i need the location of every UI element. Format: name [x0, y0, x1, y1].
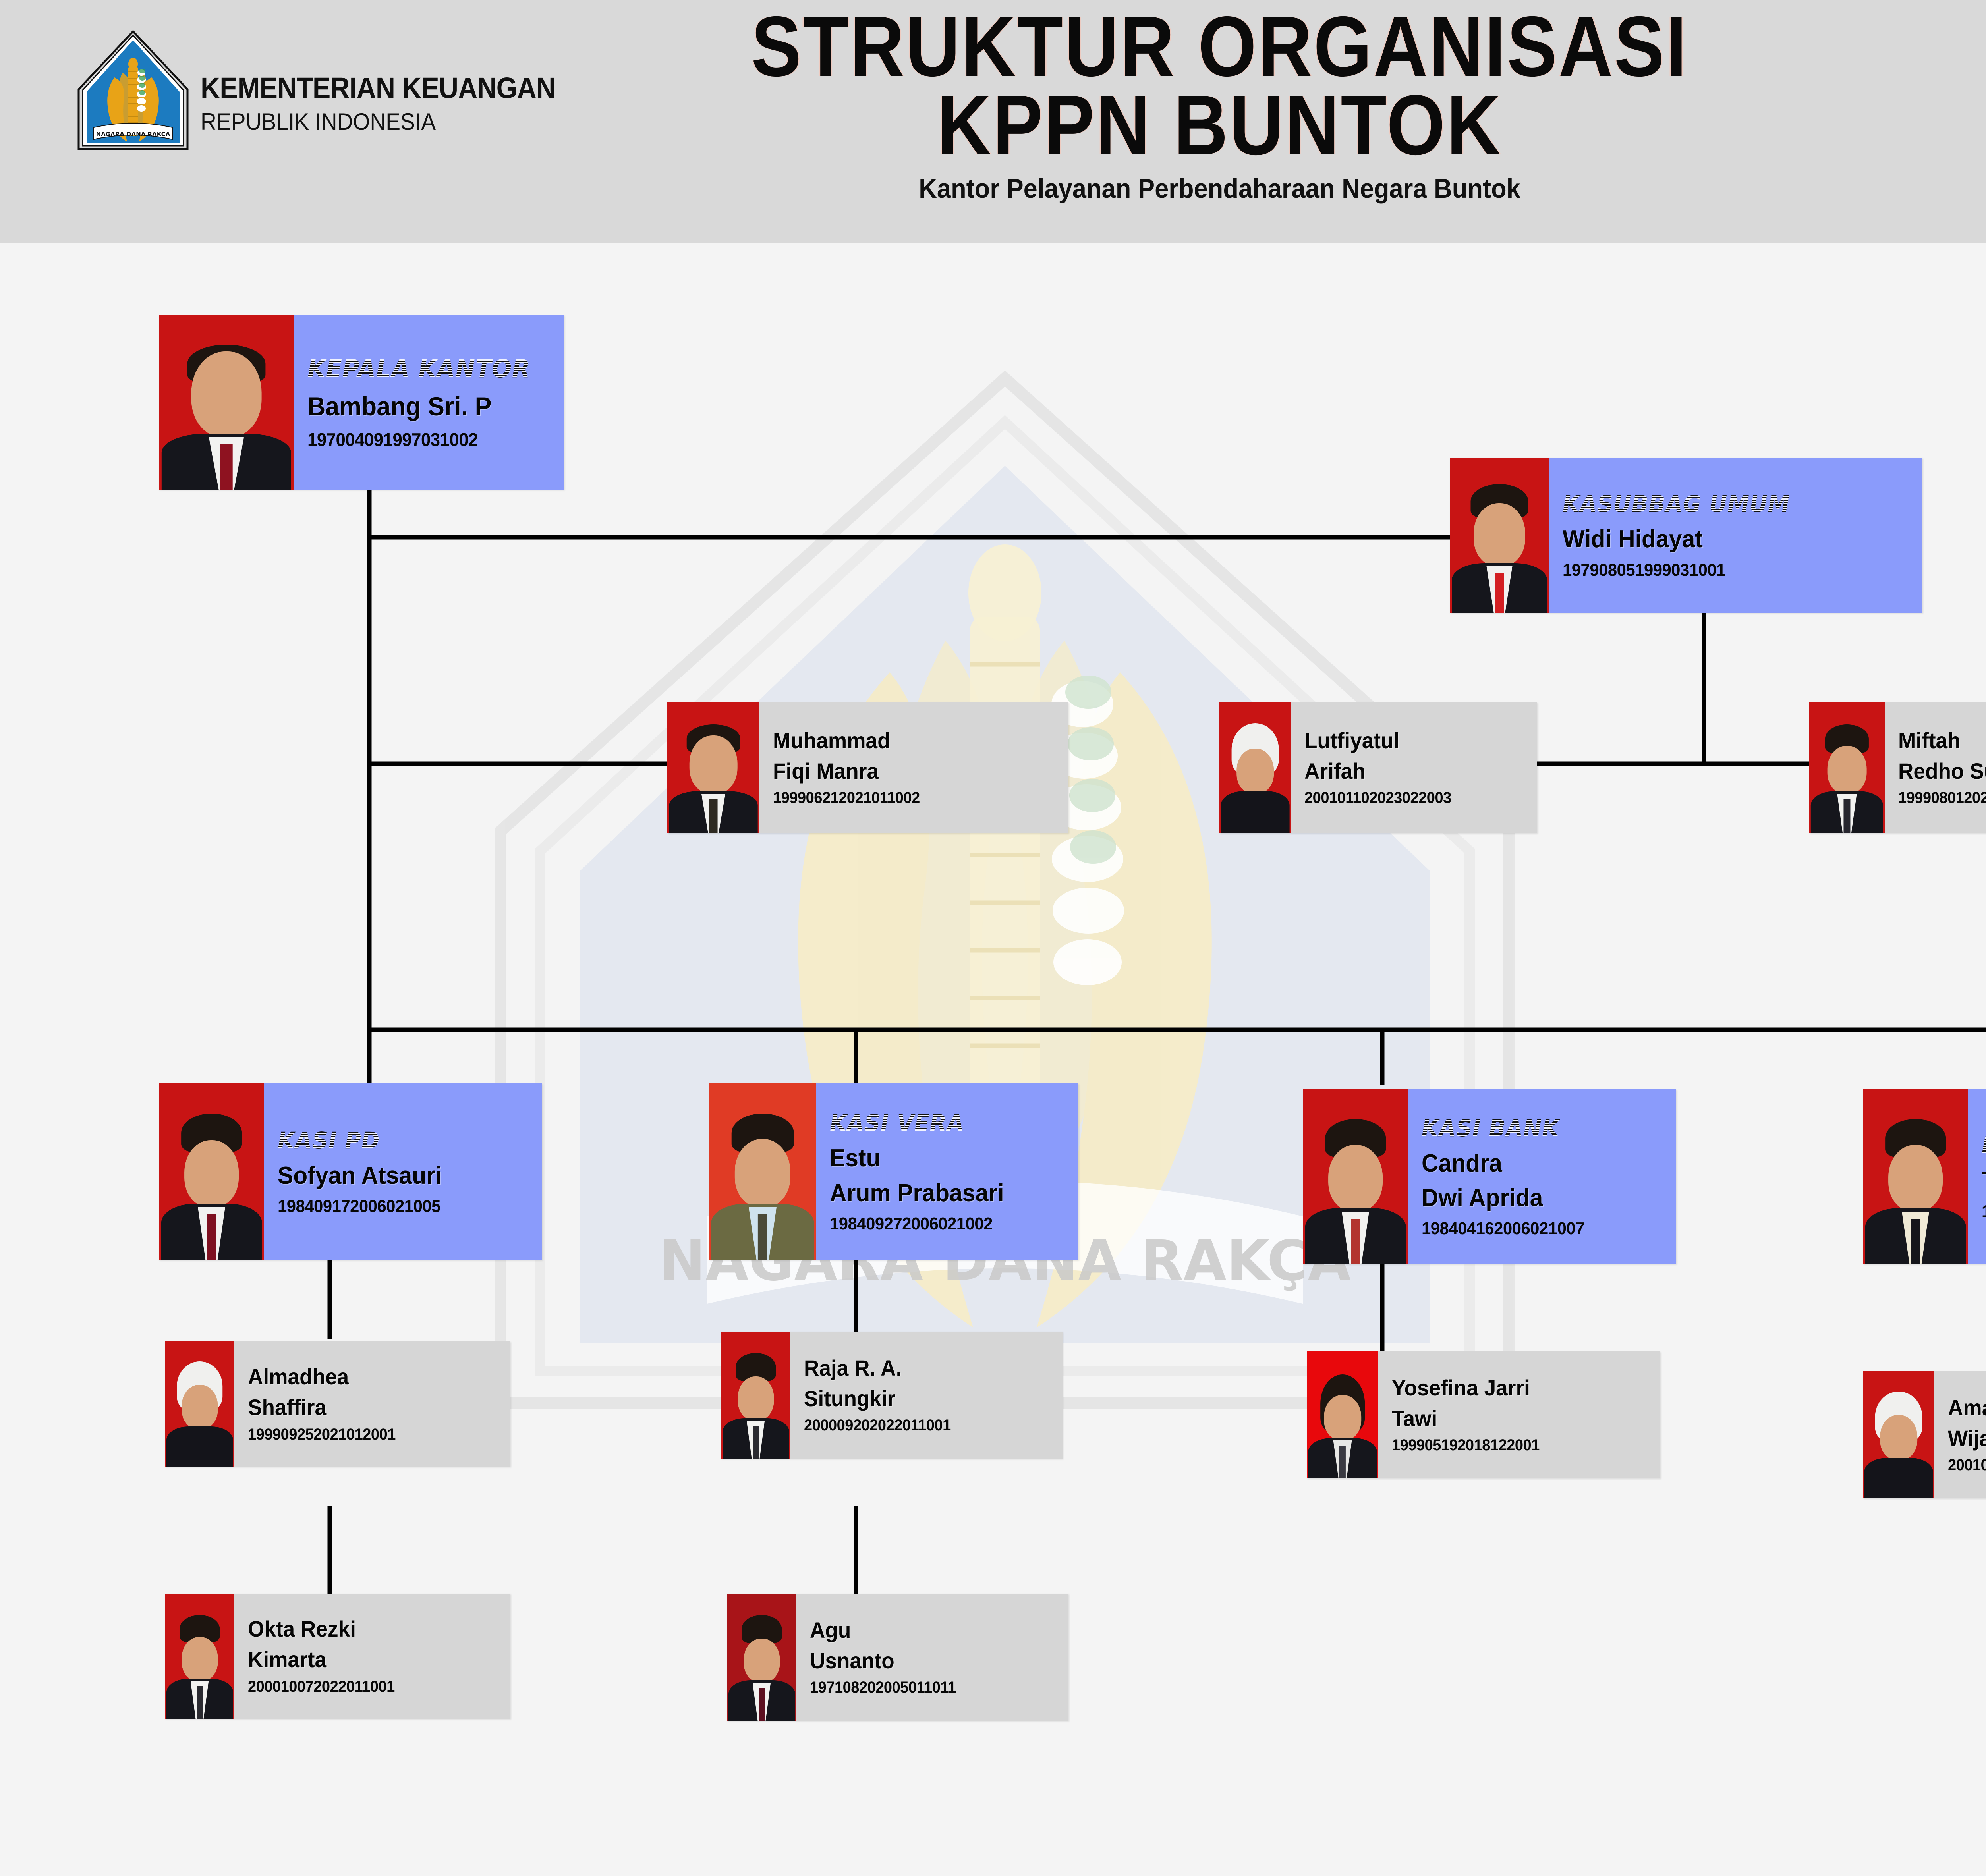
- card-kasubbag-umum[interactable]: KASUBBAG UMUM Widi Hidayat 1979080519990…: [1450, 458, 1922, 613]
- name-staff-vera-1-line1: Agu: [810, 1618, 1046, 1643]
- card-staff-bank-0[interactable]: Yosefina Jarri Tawi 199905192018122001: [1307, 1351, 1660, 1478]
- photo-staff-pd-1: [165, 1594, 234, 1719]
- card-kepala-kantor[interactable]: KEPALA KANTOR Bambang Sri. P 19700409199…: [159, 315, 564, 490]
- role-kasubbag-umum: KASUBBAG UMUM: [1563, 490, 1895, 517]
- role-kasi-pd: KASI PD: [278, 1127, 519, 1154]
- name-staff-umum-0-line2: Fiqi Manra: [773, 759, 1044, 784]
- nip-staff-pd-0: 199909252021012001: [248, 1426, 487, 1444]
- photo-staff-vera-0: [721, 1332, 790, 1459]
- card-staff-vera-0[interactable]: Raja R. A. Situngkir 200009202022011001: [721, 1332, 1063, 1459]
- photo-staff-vera-1: [727, 1594, 796, 1721]
- card-staff-vera-1[interactable]: Agu Usnanto 197108202005011011: [727, 1594, 1068, 1721]
- name-staff-pd-1-line2: Kimarta: [248, 1647, 487, 1672]
- photo-staff-pd-0: [165, 1341, 234, 1467]
- title-line1: STRUKTUR ORGANISASI: [146, 7, 1986, 86]
- nip-kepala-kantor: 197004091997031002: [307, 429, 541, 450]
- card-kasi-bank[interactable]: KASI BANK Candra Dwi Aprida 198404162006…: [1303, 1089, 1676, 1264]
- name-staff-umum-1-line2: Arifah: [1304, 759, 1516, 784]
- name-kasubbag-umum: Widi Hidayat: [1563, 525, 1895, 553]
- photo-staff-umum-0: [667, 702, 759, 833]
- name-staff-vera-0-line2: Situngkir: [804, 1386, 1040, 1411]
- photo-staff-bank-0: [1307, 1351, 1378, 1478]
- name-staff-bank-0-line1: Yosefina Jarri: [1392, 1376, 1637, 1401]
- card-staff-umum-0[interactable]: Muhammad Fiqi Manra 199906212021011002: [667, 702, 1068, 833]
- card-kasi-pd[interactable]: KASI PD Sofyan Atsauri 19840917200602100…: [159, 1083, 542, 1260]
- nip-kasubbag-umum: 197908051999031001: [1563, 560, 1895, 580]
- photo-kasubbag-umum: [1450, 458, 1549, 613]
- nip-staff-pd-1: 200010072022011001: [248, 1678, 487, 1696]
- name-kasi-vera-line2: Arum Prabasari: [830, 1179, 1056, 1207]
- photo-staff-umum-1: [1219, 702, 1291, 833]
- title-subtitle: Kantor Pelayanan Perbendaharaan Negara B…: [85, 173, 1986, 204]
- nip-staff-bank-0: 199905192018122001: [1392, 1436, 1637, 1454]
- name-staff-umum-2-line1: Miftah: [1898, 728, 1986, 753]
- name-staff-mski-0-line2: Wijayanti: [1948, 1426, 1986, 1451]
- photo-kasi-vera: [709, 1083, 816, 1260]
- page-header: NAGARA DANA RAKÇA KEMENTERIAN KEUANGAN R…: [0, 0, 1986, 243]
- photo-kepala-kantor: [159, 315, 294, 490]
- photo-kasi-mski: [1863, 1089, 1968, 1264]
- card-staff-pd-1[interactable]: Okta Rezki Kimarta 200010072022011001: [165, 1594, 510, 1719]
- name-kasi-pd: Sofyan Atsauri: [278, 1162, 519, 1189]
- nip-staff-umum-0: 199906212021011002: [773, 789, 1044, 807]
- card-kasi-mski[interactable]: KASI MSKI Teguh Raharjo 1983020620031210…: [1863, 1089, 1986, 1264]
- name-staff-vera-1-line2: Usnanto: [810, 1648, 1046, 1673]
- nip-staff-umum-1: 200101102023022003: [1304, 789, 1516, 807]
- photo-kasi-bank: [1303, 1089, 1408, 1264]
- org-chart-canvas: NAGARA DANA RAKÇA: [0, 243, 1986, 1876]
- card-staff-mski-0[interactable]: Amalla Arum Wijayanti 200105142023022001: [1863, 1371, 1986, 1498]
- nip-kasi-vera: 198409272006021002: [830, 1214, 1056, 1234]
- name-staff-umum-2-line2: Redho Suhaidi: [1898, 759, 1986, 784]
- name-staff-umum-1-line1: Lutfiyatul: [1304, 728, 1516, 753]
- page-title: STRUKTUR ORGANISASI KPPN BUNTOK Kantor P…: [0, 0, 1986, 204]
- photo-staff-umum-2: [1809, 702, 1885, 833]
- nip-kasi-pd: 198409172006021005: [278, 1197, 519, 1216]
- nip-staff-umum-2: 199908012021011002: [1898, 789, 1986, 807]
- nip-staff-mski-0: 200105142023022001: [1948, 1456, 1986, 1474]
- role-kasi-mski: KASI MSKI: [1982, 1132, 1986, 1159]
- card-staff-pd-0[interactable]: Almadhea Shaffira 199909252021012001: [165, 1341, 510, 1467]
- name-staff-bank-0-line2: Tawi: [1392, 1406, 1637, 1431]
- name-staff-mski-0-line1: Amalla Arum: [1948, 1395, 1986, 1421]
- card-kasi-vera[interactable]: KASI VERA Estu Arum Prabasari 1984092720…: [709, 1083, 1078, 1260]
- name-staff-pd-0-line2: Shaffira: [248, 1395, 487, 1420]
- name-staff-pd-1-line1: Okta Rezki: [248, 1617, 487, 1642]
- name-kasi-vera-line1: Estu: [830, 1145, 1056, 1172]
- name-staff-vera-0-line1: Raja R. A.: [804, 1356, 1040, 1381]
- role-kepala-kantor: KEPALA KANTOR: [307, 354, 541, 383]
- card-staff-umum-1[interactable]: Lutfiyatul Arifah 200101102023022003: [1219, 702, 1537, 833]
- name-kepala-kantor: Bambang Sri. P: [307, 392, 541, 421]
- nip-kasi-mski: 198302062003121001: [1982, 1202, 1986, 1222]
- nip-staff-vera-1: 197108202005011011: [810, 1679, 1046, 1697]
- title-line2: KPPN BUNTOK: [146, 86, 1986, 164]
- photo-kasi-pd: [159, 1083, 264, 1260]
- name-kasi-mski: Teguh Raharjo: [1982, 1167, 1986, 1194]
- photo-staff-mski-0: [1863, 1371, 1934, 1498]
- card-staff-umum-2[interactable]: Miftah Redho Suhaidi 199908012021011002: [1809, 702, 1986, 833]
- name-staff-pd-0-line1: Almadhea: [248, 1365, 487, 1390]
- nip-staff-vera-0: 200009202022011001: [804, 1417, 1040, 1434]
- name-staff-umum-0-line1: Muhammad: [773, 728, 1044, 753]
- name-kasi-bank-line1: Candra: [1422, 1150, 1654, 1177]
- nip-kasi-bank: 198404162006021007: [1422, 1219, 1654, 1239]
- role-kasi-vera: KASI VERA: [830, 1110, 1056, 1137]
- name-kasi-bank-line2: Dwi Aprida: [1422, 1184, 1654, 1212]
- role-kasi-bank: KASI BANK: [1422, 1115, 1654, 1142]
